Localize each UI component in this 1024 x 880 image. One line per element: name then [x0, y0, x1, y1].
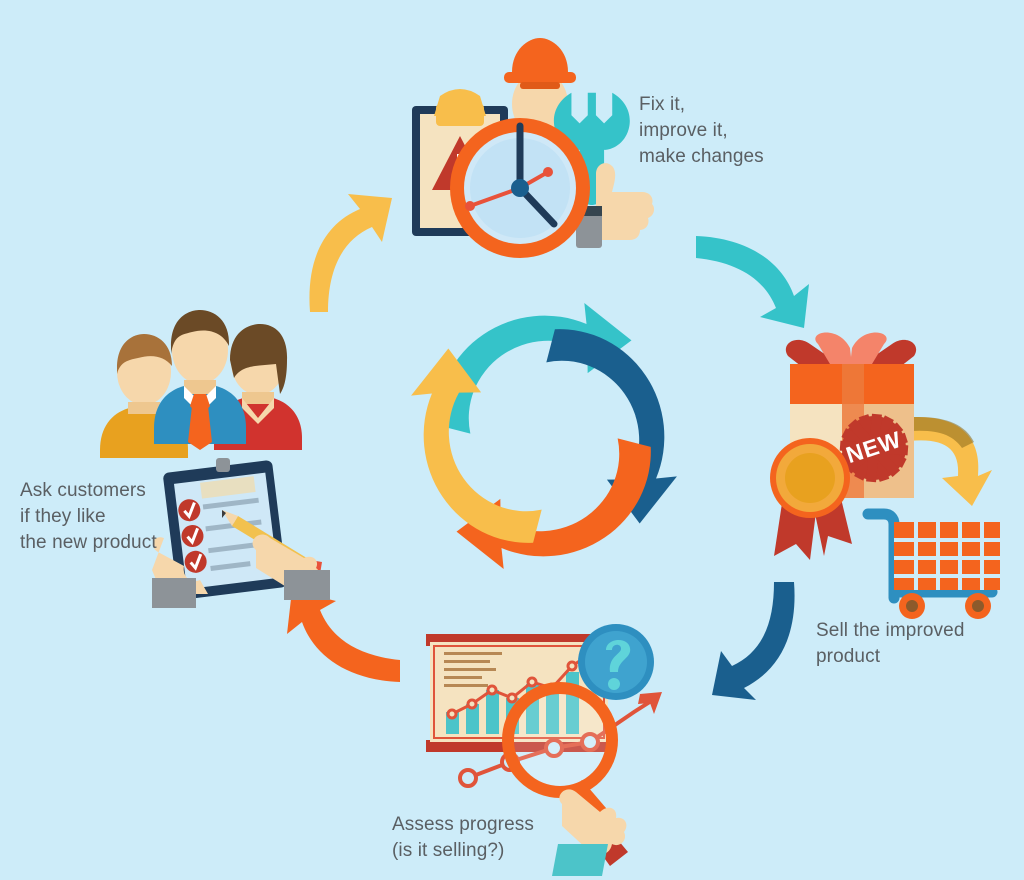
shopping-cart-icon [868, 514, 1000, 619]
clock-icon [450, 118, 590, 258]
process-cycle-diagram: Fix it, improve it, make changes [0, 0, 1024, 880]
award-ribbon-icon [770, 438, 852, 560]
step-fix-label: Fix it, improve it, make changes [639, 92, 764, 170]
step-sell-icon-group: NEW [766, 330, 1016, 620]
step-sell-label: Sell the improved product [816, 618, 965, 670]
connector-fix-to-sell [692, 222, 814, 334]
question-mark-icon [578, 624, 654, 700]
step-ask-label: Ask customers if they like the new produ… [20, 478, 157, 556]
connector-ask-to-fix [288, 182, 398, 317]
step-assess-label: Assess progress (is it selling?) [392, 812, 534, 864]
central-cycle-graphic [398, 298, 690, 574]
step-fix-icon-group [400, 8, 662, 264]
